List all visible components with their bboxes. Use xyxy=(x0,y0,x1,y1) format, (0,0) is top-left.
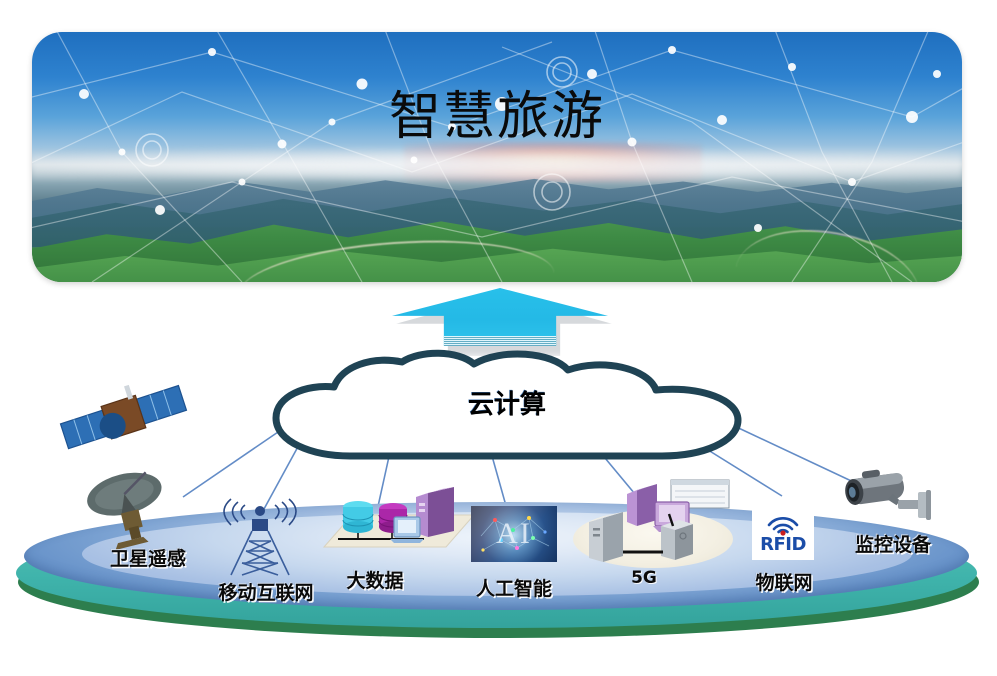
node-label: 5G xyxy=(608,568,680,588)
ai-badge: AI xyxy=(471,506,557,562)
wifi-arcs-icon xyxy=(761,503,805,533)
server-computer-icon xyxy=(565,478,740,573)
smart-tourism-diagram: 智慧旅游 云计算 xyxy=(0,0,997,676)
satellite-dish-icon xyxy=(80,468,190,548)
node-five-g[interactable]: 5G xyxy=(608,568,680,588)
cell-tower-icon xyxy=(205,485,315,577)
node-monitoring-equipment[interactable]: 监控设备 xyxy=(838,530,948,557)
rfid-label: RFID xyxy=(760,534,806,555)
node-artificial-intelligence[interactable]: 人工智能 xyxy=(452,574,576,601)
node-label: 大数据 xyxy=(310,566,440,593)
rfid-icon: RFID xyxy=(752,498,814,560)
cloud-label: 云计算 xyxy=(262,384,752,421)
node-label: 物联网 xyxy=(728,568,840,595)
node-internet-of-things[interactable]: 物联网 xyxy=(728,568,840,595)
node-label: 卫星遥感 xyxy=(78,544,218,571)
node-label: 人工智能 xyxy=(452,574,576,601)
node-big-data[interactable]: 大数据 xyxy=(310,566,440,593)
ai-brain-icon: AI xyxy=(471,506,557,562)
node-satellite-remote-sensing[interactable]: 卫星遥感 xyxy=(78,544,218,571)
cctv-camera-icon xyxy=(836,466,946,538)
database-server-icon xyxy=(318,485,478,565)
node-label: 监控设备 xyxy=(838,530,948,557)
cloud-computing-node[interactable]: 云计算 xyxy=(262,352,752,462)
